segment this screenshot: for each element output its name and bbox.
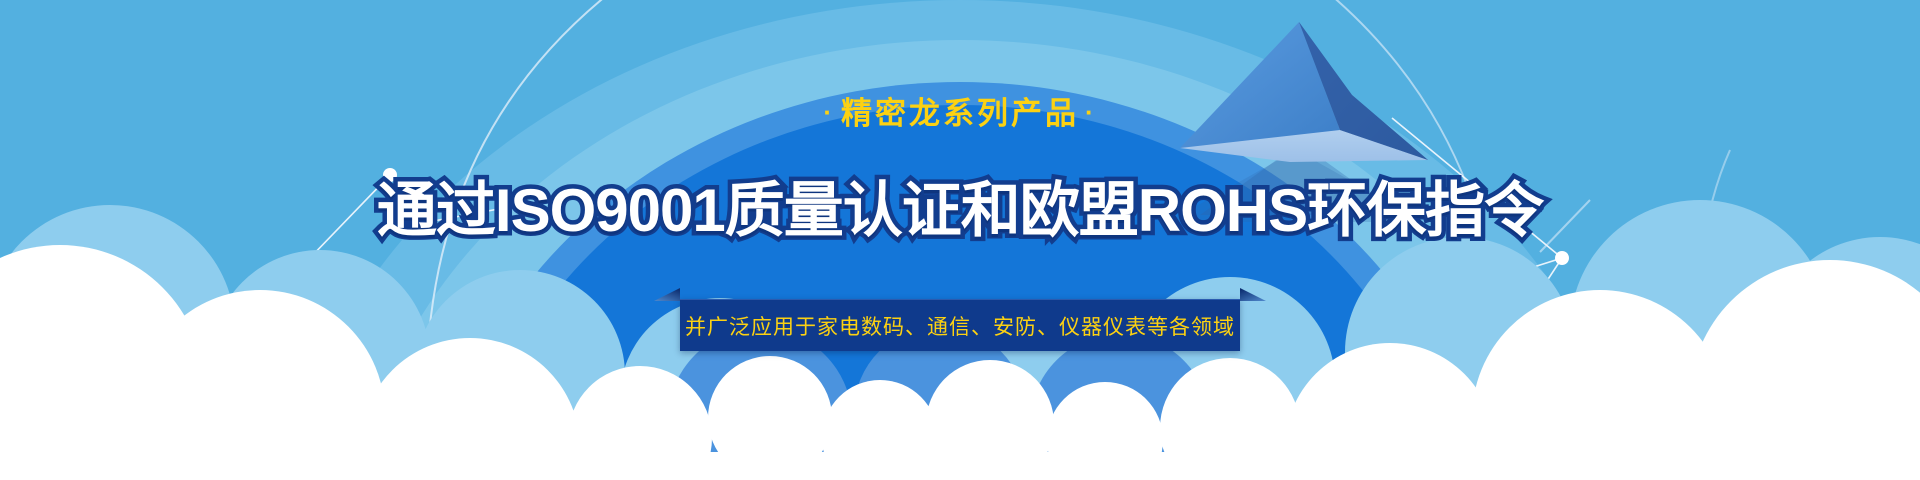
- ribbon-fold-left-icon: [654, 288, 680, 301]
- banner-content: ·精密龙系列产品· 通过ISO9001质量认证和欧盟ROHS环保指令 并广泛应用…: [0, 0, 1920, 480]
- ribbon-bar: 并广泛应用于家电数码、通信、安防、仪器仪表等各领域: [680, 299, 1240, 351]
- ribbon-fold-right-icon: [1240, 288, 1266, 301]
- bullet-dot-left-icon: ·: [817, 97, 841, 128]
- banner-eyebrow: ·精密龙系列产品·: [0, 88, 1920, 133]
- banner-eyebrow-text: 精密龙系列产品: [841, 96, 1079, 131]
- ribbon-text: 并广泛应用于家电数码、通信、安防、仪器仪表等各领域: [685, 311, 1235, 341]
- banner-headline: 通过ISO9001质量认证和欧盟ROHS环保指令: [0, 162, 1920, 249]
- bullet-dot-right-icon: ·: [1079, 97, 1103, 128]
- promo-banner: ·精密龙系列产品· 通过ISO9001质量认证和欧盟ROHS环保指令 并广泛应用…: [0, 0, 1920, 480]
- banner-ribbon: 并广泛应用于家电数码、通信、安防、仪器仪表等各领域: [680, 288, 1240, 351]
